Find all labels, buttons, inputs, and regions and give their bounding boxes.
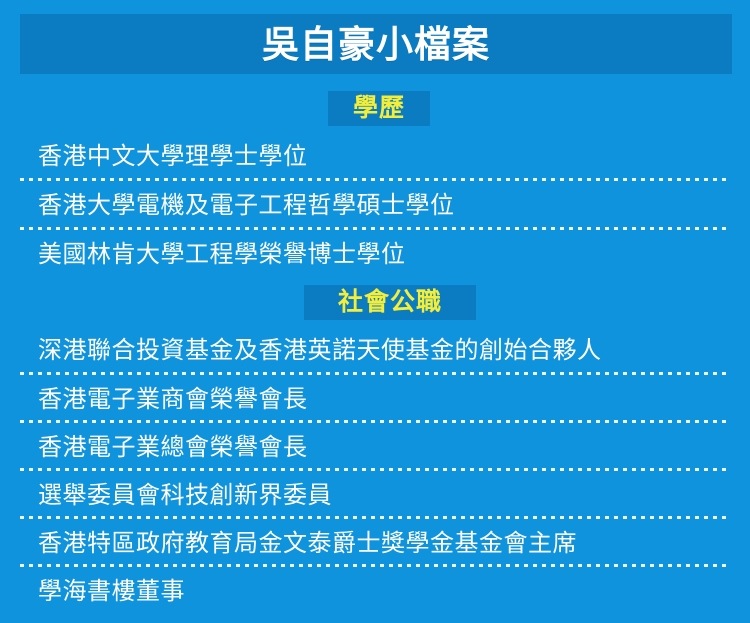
list-item: 深港聯合投資基金及香港英諾天使基金的創始合夥人 [38, 339, 602, 363]
list-separator [20, 420, 730, 423]
list-separator [20, 178, 730, 181]
section-badge-education: 學歷 [328, 91, 430, 126]
section-badge-public-service: 社會公職 [304, 285, 476, 320]
list-item: 香港大學電機及電子工程哲學碩士學位 [38, 194, 455, 218]
list-separator [20, 516, 730, 519]
list-item: 香港中文大學理學士學位 [38, 145, 308, 169]
list-item: 學海書樓董事 [38, 580, 185, 604]
list-item: 香港電子業商會榮譽會長 [38, 388, 308, 412]
list-item: 美國林肯大學工程學榮譽博士學位 [38, 243, 406, 267]
list-item: 香港特區政府教育局金文泰爵士獎學金基金會主席 [38, 532, 577, 556]
list-separator [20, 372, 730, 375]
list-item: 選舉委員會科技創新界委員 [38, 484, 332, 508]
list-separator [20, 468, 730, 471]
header-band: 吳自豪小檔案 [20, 14, 732, 74]
list-separator [20, 564, 730, 567]
list-separator [20, 227, 730, 230]
profile-card: 吳自豪小檔案 學歷 香港中文大學理學士學位 香港大學電機及電子工程哲學碩士學位 … [0, 0, 750, 623]
list-item: 香港電子業總會榮譽會長 [38, 436, 308, 460]
page-title: 吳自豪小檔案 [262, 26, 490, 63]
